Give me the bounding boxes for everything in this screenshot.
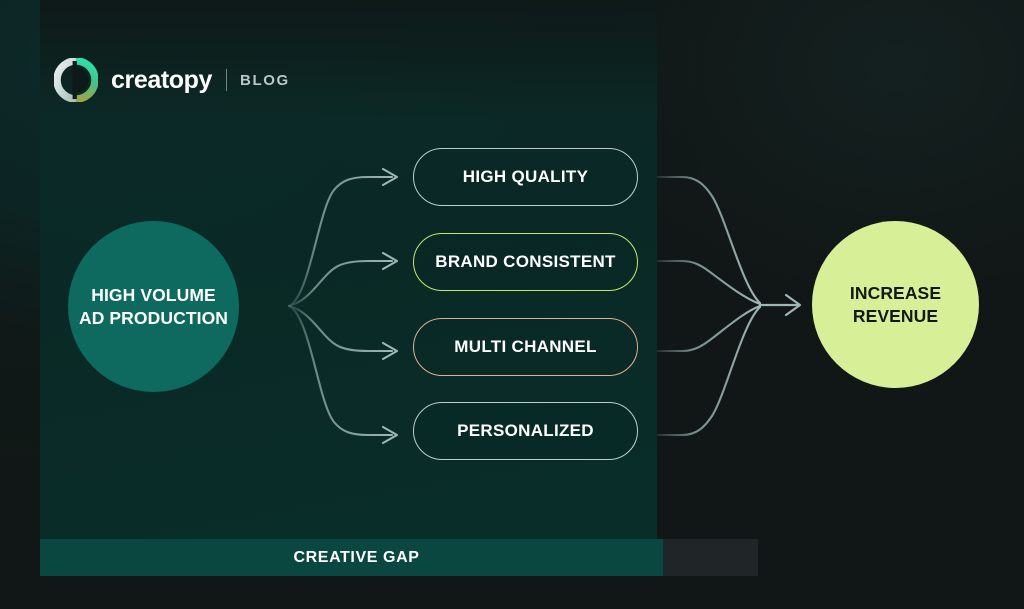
brand-section-label: BLOG bbox=[240, 73, 290, 88]
node-brand-consistent[interactable]: BRAND CONSISTENT bbox=[413, 233, 638, 291]
footer-band-label: CREATIVE GAP bbox=[293, 549, 419, 567]
node-personalized[interactable]: PERSONALIZED bbox=[413, 402, 638, 460]
node-label: HIGH VOLUME AD PRODUCTION bbox=[79, 284, 228, 329]
node-label: MULTI CHANNEL bbox=[454, 337, 596, 357]
diagram-canvas: creatopy BLOG bbox=[0, 0, 1024, 609]
node-increase-revenue[interactable]: INCREASE REVENUE bbox=[812, 221, 979, 388]
node-multi-channel[interactable]: MULTI CHANNEL bbox=[413, 318, 638, 376]
creatopy-ring-logo-icon bbox=[54, 58, 98, 102]
node-label: BRAND CONSISTENT bbox=[435, 252, 615, 272]
node-label: INCREASE REVENUE bbox=[850, 282, 941, 328]
node-high-quality[interactable]: HIGH QUALITY bbox=[413, 148, 638, 206]
brand-divider bbox=[226, 69, 227, 91]
node-label: HIGH QUALITY bbox=[463, 167, 588, 187]
footer-band-shadow bbox=[663, 539, 758, 576]
node-label: PERSONALIZED bbox=[457, 421, 594, 441]
brand-name: creatopy bbox=[111, 68, 212, 93]
node-high-volume-ad-production[interactable]: HIGH VOLUME AD PRODUCTION bbox=[68, 221, 239, 392]
brand-lockup: creatopy BLOG bbox=[54, 56, 290, 104]
footer-band-creative-gap: CREATIVE GAP bbox=[40, 539, 663, 576]
